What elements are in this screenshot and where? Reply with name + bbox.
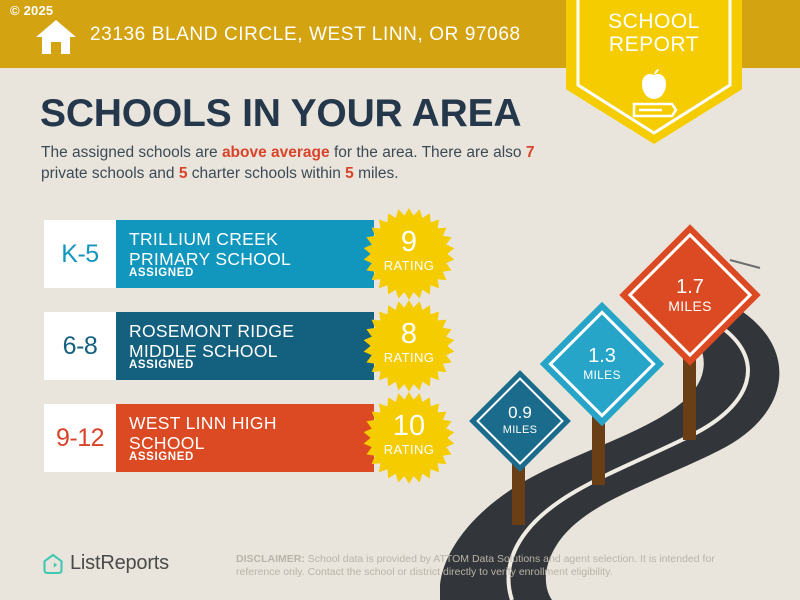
school-row[interactable]: 9-12 WEST LINN HIGH SCHOOL ASSIGNED — [44, 404, 374, 472]
grade-range-box: 9-12 — [44, 404, 116, 472]
disclaimer-label: DISCLAIMER: — [236, 553, 305, 565]
home-icon — [34, 18, 78, 56]
school-bar: WEST LINN HIGH SCHOOL ASSIGNED — [116, 404, 374, 472]
sign-border-3 — [628, 233, 752, 357]
listreports-wordmark: ListReports — [70, 552, 169, 575]
sign-face-1: 0.9 MILES — [484, 385, 556, 457]
book-icon — [634, 104, 676, 116]
copyright-watermark: © 2025 — [10, 3, 53, 18]
rating-badge: 9 RATING — [361, 206, 457, 302]
grade-range-box: K-5 — [44, 220, 116, 288]
sign-face-3: 1.7 MILES — [640, 245, 740, 345]
badge-title-line2: REPORT — [566, 33, 742, 56]
listreports-logo[interactable]: ListReports — [42, 552, 169, 575]
disclaimer-text: DISCLAIMER: School data is provided by A… — [236, 553, 736, 579]
sign-border-2 — [548, 310, 655, 417]
school-row[interactable]: 6-8 ROSEMONT RIDGE MIDDLE SCHOOL ASSIGNE… — [44, 312, 374, 380]
sign-border-1 — [476, 377, 564, 465]
subtitle-part-3: private schools and — [41, 165, 179, 182]
page-title: SCHOOLS IN YOUR AREA — [40, 92, 521, 136]
subtitle-highlight-above-average: above average — [222, 144, 330, 161]
badge-title-line1: SCHOOL — [566, 10, 742, 33]
school-status: ASSIGNED — [129, 267, 194, 279]
badge-icon-group — [624, 66, 684, 118]
school-row[interactable]: K-5 TRILLIUM CREEK PRIMARY SCHOOL ASSIGN… — [44, 220, 374, 288]
school-name-line2: PRIMARY SCHOOL — [129, 249, 359, 269]
disclaimer-body: School data is provided by ATTOM Data So… — [236, 553, 715, 578]
grade-range-box: 6-8 — [44, 312, 116, 380]
school-name: TRILLIUM CREEK PRIMARY SCHOOL — [129, 229, 359, 269]
school-name: WEST LINN HIGH SCHOOL — [129, 413, 359, 453]
school-status: ASSIGNED — [129, 359, 194, 371]
rating-value: 8 — [361, 319, 457, 349]
rating-badge: 10 RATING — [361, 390, 457, 486]
school-status: ASSIGNED — [129, 451, 194, 463]
rating-value: 9 — [361, 227, 457, 257]
subtitle-part-2: for the area. There are also — [330, 144, 526, 161]
school-name-line2: MIDDLE SCHOOL — [129, 341, 359, 361]
rating-label: RATING — [361, 442, 457, 457]
school-name: ROSEMONT RIDGE MIDDLE SCHOOL — [129, 321, 359, 361]
property-address: 23136 BLAND CIRCLE, WEST LINN, OR 97068 — [90, 24, 521, 46]
school-bar: TRILLIUM CREEK PRIMARY SCHOOL ASSIGNED — [116, 220, 374, 288]
rating-badge: 8 RATING — [361, 298, 457, 394]
subtitle-part-4: charter schools within — [187, 165, 345, 182]
subtitle-highlight-radius: 5 — [345, 165, 354, 182]
subtitle-highlight-private-count: 7 — [526, 144, 535, 161]
school-name-line1: ROSEMONT RIDGE — [129, 321, 359, 341]
page-subtitle: The assigned schools are above average f… — [41, 142, 571, 184]
school-name-line1: TRILLIUM CREEK — [129, 229, 359, 249]
rating-label: RATING — [361, 350, 457, 365]
subtitle-part-1: The assigned schools are — [41, 144, 222, 161]
sign-face-2: 1.3 MILES — [558, 320, 646, 408]
sign-diamond-1 — [469, 370, 571, 472]
rating-label: RATING — [361, 258, 457, 273]
road-illustration: 1.7 MILES 1.3 MILES — [440, 200, 800, 600]
school-name-line1: WEST LINN HIGH — [129, 413, 359, 433]
school-report-badge: SCHOOL REPORT — [566, 0, 742, 144]
school-name-line2: SCHOOL — [129, 433, 359, 453]
listreports-house-icon — [42, 553, 64, 575]
rating-value: 10 — [361, 411, 457, 441]
apple-icon — [642, 69, 666, 99]
school-report-infographic: 1.7 MILES 1.3 MILES — [0, 0, 800, 600]
subtitle-part-5: miles. — [354, 165, 399, 182]
badge-title: SCHOOL REPORT — [566, 10, 742, 56]
school-bar: ROSEMONT RIDGE MIDDLE SCHOOL ASSIGNED — [116, 312, 374, 380]
